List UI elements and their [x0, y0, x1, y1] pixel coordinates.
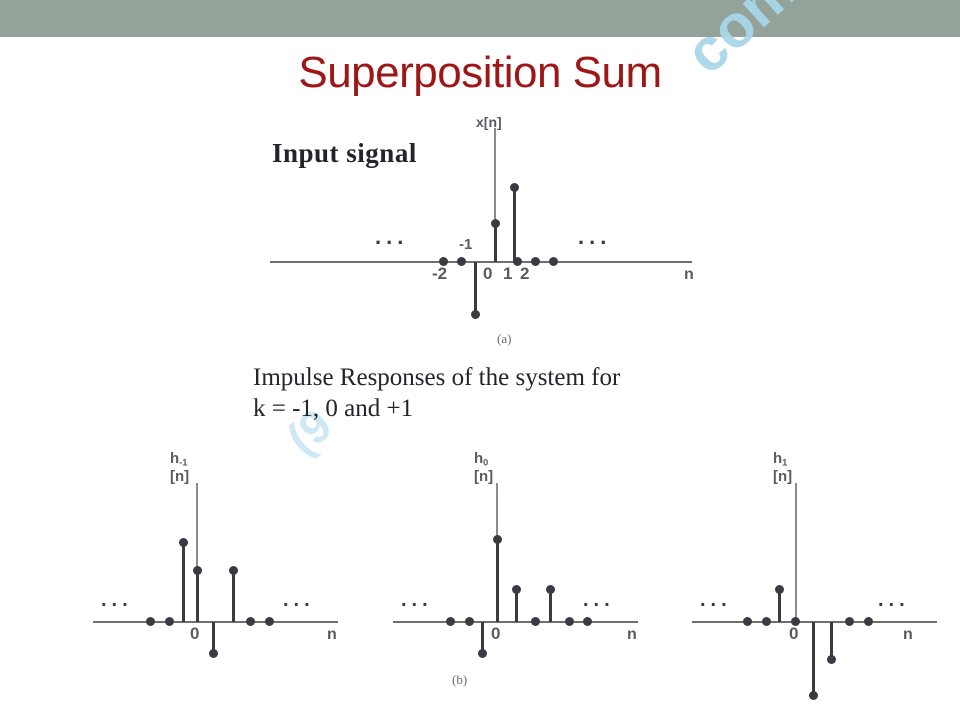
input-stem-n-1: [513, 186, 516, 262]
input-stem-head-n-minus-1: [471, 310, 480, 319]
h-minus-1-y-axis-label: h-1 [n]: [170, 450, 189, 485]
h-label-tail: [n]: [474, 468, 493, 485]
h-1-ellipsis-right: ...: [878, 590, 910, 610]
h-minus-1-stem-d: [232, 570, 235, 622]
h-minus-1-sample-dot: [146, 617, 155, 626]
h-0-sample-dot: [465, 617, 474, 626]
h-minus-1-stem-a: [182, 541, 185, 622]
h-minus-1-stem-head-a: [179, 538, 188, 547]
input-signal-label: Input signal: [272, 138, 417, 169]
input-tick-minus-1: -1: [459, 236, 472, 253]
input-sample-dot: [549, 257, 558, 266]
input-tick-minus-2: -2: [432, 264, 447, 284]
h-label-subscript: 1: [782, 458, 787, 468]
h-1-x-axis-label: n: [903, 626, 913, 644]
h-0-sample-dot: [446, 617, 455, 626]
h-minus-1-sample-dot: [246, 617, 255, 626]
h-1-sample-dot: [743, 617, 752, 626]
h-1-ellipsis-left: ...: [700, 590, 732, 610]
input-x-axis: [270, 261, 692, 263]
h-1-stem-head-b: [809, 691, 818, 700]
input-stem-head-n-1: [510, 183, 519, 192]
h-1-sample-dot: [864, 617, 873, 626]
h-0-sample-dot: [565, 617, 574, 626]
h-label-tail: [n]: [170, 468, 189, 485]
impulse-heading-line-1: Impulse Responses of the system for: [253, 362, 773, 393]
h-label-tail: [n]: [773, 468, 792, 485]
h-0-stem-b: [496, 539, 499, 622]
figure-caption-b: (b): [452, 672, 467, 688]
input-stem-n-minus-1: [474, 262, 477, 314]
h-minus-1-stem-b: [196, 570, 199, 622]
h-0-ellipsis-right: ...: [583, 590, 615, 610]
h-1-y-axis-label: h1 [n]: [773, 450, 792, 485]
h-1-sample-dot: [762, 617, 771, 626]
h-1-stem-head-c: [827, 655, 836, 664]
h-label-subscript: 0: [483, 458, 488, 468]
h-1-sample-dot: [845, 617, 854, 626]
h-1-stem-head-a: [775, 585, 784, 594]
figure-caption-a: (a): [497, 331, 511, 347]
h-minus-1-ellipsis-right: ...: [283, 590, 315, 610]
h-minus-1-stem-head-c: [209, 649, 218, 658]
input-ellipsis-left: ...: [375, 226, 408, 248]
h-0-ellipsis-left: ...: [401, 590, 433, 610]
slide-canvas: Superposition Sum com (9 Input signal x[…: [0, 0, 960, 720]
h-minus-1-x-axis-label: n: [327, 626, 337, 644]
h-0-stem-head-d: [546, 585, 555, 594]
input-x-axis-label: n: [684, 266, 694, 284]
impulse-heading-line-2: k = -1, 0 and +1: [253, 393, 773, 424]
h-1-stem-b: [812, 622, 815, 695]
h-0-tick-0: 0: [491, 624, 500, 644]
h-label-subscript: -1: [179, 458, 187, 468]
h-0-sample-dot: [531, 617, 540, 626]
h-minus-1-x-axis: [93, 621, 338, 623]
h-0-sample-dot: [583, 617, 592, 626]
input-tick-2: 2: [520, 264, 529, 284]
h-minus-1-stem-head-d: [229, 566, 238, 575]
h-label-base: h: [773, 450, 782, 467]
h-1-stem-c: [830, 622, 833, 659]
h-0-stem-head-b: [493, 535, 502, 544]
input-ellipsis-right: ...: [578, 226, 611, 248]
h-label-base: h: [170, 450, 179, 467]
input-sample-dot: [531, 257, 540, 266]
h-0-stem-head-c: [512, 585, 521, 594]
input-y-axis-label: x[n]: [476, 114, 502, 130]
input-tick-1: 1: [503, 264, 512, 284]
h-minus-1-sample-dot: [265, 617, 274, 626]
h-minus-1-sample-dot: [165, 617, 174, 626]
h-1-tick-0: 0: [789, 624, 798, 644]
input-tick-0: 0: [483, 264, 492, 284]
h-0-y-axis-label: h0 [n]: [474, 450, 493, 485]
h-minus-1-tick-0: 0: [190, 624, 199, 644]
h-minus-1-stem-head-b: [193, 566, 202, 575]
page-title: Superposition Sum: [0, 48, 960, 98]
slide-top-bar: [0, 0, 960, 37]
h-0-stem-head-a: [478, 649, 487, 658]
input-stem-head-n-0: [491, 219, 500, 228]
h-1-y-axis: [795, 483, 797, 622]
input-sample-dot: [457, 257, 466, 266]
h-label-base: h: [474, 450, 483, 467]
h-minus-1-ellipsis-left: ...: [101, 590, 133, 610]
impulse-response-heading: Impulse Responses of the system for k = …: [253, 362, 773, 424]
h-0-x-axis-label: n: [627, 626, 637, 644]
input-stem-n-0: [494, 222, 497, 262]
